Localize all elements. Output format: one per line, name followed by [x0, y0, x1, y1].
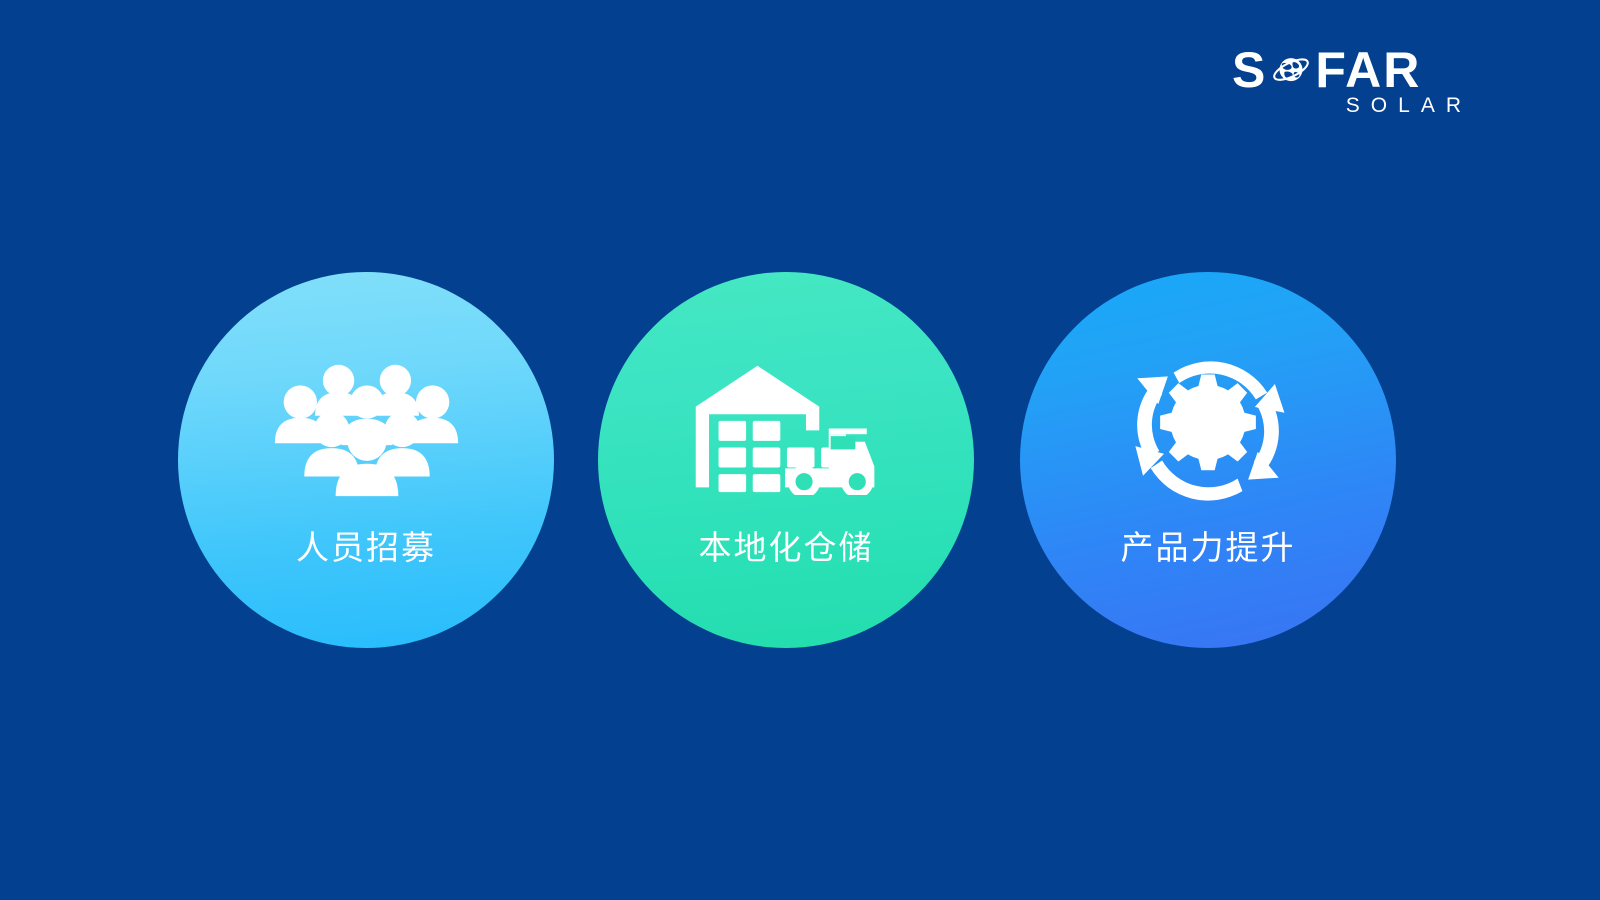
feature-circle-label: 本地化仓储: [699, 530, 874, 566]
feature-circle-label: 产品力提升: [1121, 530, 1296, 566]
feature-circle-product-capability[interactable]: 产品力提升: [1020, 272, 1396, 648]
people-group-icon: [261, 348, 471, 508]
feature-circles-row: 人员招募: [0, 272, 1600, 648]
feature-circle-recruitment[interactable]: 人员招募: [178, 272, 554, 648]
brand-logo-letters-far: FAR: [1315, 45, 1421, 95]
brand-logo-letter-s: S: [1232, 45, 1267, 95]
gear-clock-arrows-icon: [1103, 348, 1313, 508]
brand-logo: S F: [1232, 45, 1472, 123]
warehouse-truck-icon: [681, 348, 891, 508]
brand-logo-subtitle: SOLAR: [1342, 95, 1472, 116]
brand-wordmark: S F: [1232, 45, 1472, 95]
globe-orbit-icon: [1268, 48, 1314, 94]
feature-circle-label: 人员招募: [296, 530, 436, 566]
feature-circle-local-warehousing[interactable]: 本地化仓储: [598, 272, 974, 648]
